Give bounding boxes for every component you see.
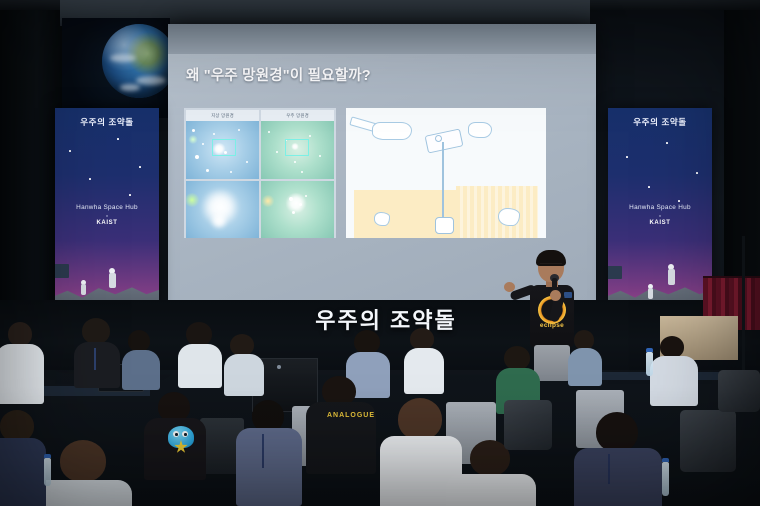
torso (122, 350, 160, 390)
cell-ground-wide (186, 121, 259, 179)
head (230, 334, 254, 356)
torso (236, 428, 302, 506)
suitcase (680, 410, 736, 472)
presenter-badge (564, 292, 572, 298)
screen-top-band (168, 24, 596, 54)
telescope-image-comparison: 지상 망원경 우주 망원경 (184, 108, 336, 238)
astronaut-icon (648, 288, 653, 299)
lanyard (262, 434, 264, 468)
banner-left-title: 우주의 조약돌 (55, 116, 159, 128)
lander-icon (608, 266, 622, 279)
torso (650, 356, 698, 406)
lander-icon (55, 264, 69, 278)
banner-left-partner: KAIST (55, 220, 159, 226)
tower-base (435, 217, 454, 234)
cell-space-wide (261, 121, 334, 179)
tower-antenna (442, 142, 444, 220)
banner-right-x: x (608, 214, 712, 218)
speaker-led-icon (277, 365, 281, 369)
analogue-jacket-text: ANALOGUE (321, 412, 381, 419)
venue-backdrop-text: 우주의 조약돌 (286, 303, 486, 335)
head (186, 322, 212, 346)
water-bottle (44, 458, 51, 486)
astronaut-icon (109, 273, 116, 288)
atmosphere-turbulence (456, 186, 538, 238)
ground-rock-icon (374, 212, 390, 226)
atmosphere-sketch (346, 108, 546, 238)
presenter-hand (550, 290, 561, 301)
comparison-labels: 지상 망원경 우주 망원경 (186, 110, 334, 121)
cell-ground-zoom (186, 181, 259, 239)
presenter-shirt-text: eclipse (534, 322, 570, 329)
banner-right-sub: Hanwha Space Hub (608, 204, 712, 211)
water-bottle (662, 462, 669, 496)
torso (224, 354, 264, 396)
torso (446, 474, 536, 506)
torso (0, 344, 44, 404)
banner-right-partner: KAIST (608, 220, 712, 226)
torso (404, 348, 444, 394)
presenter-hand (504, 282, 515, 292)
head (128, 330, 150, 352)
head (410, 328, 434, 350)
satellite-aperture-icon (435, 135, 442, 142)
banner-left-sub: Hanwha Space Hub (55, 204, 159, 211)
bottle-cap (44, 454, 51, 458)
earth-poster (62, 18, 170, 118)
lecture-hall-photo: 왜 "우주 망원경"이 필요할까? 지상 망원경 우주 망원경 (0, 0, 760, 506)
ground-rock-icon (498, 208, 520, 226)
head (8, 322, 32, 346)
banner-left-x: x (55, 214, 159, 218)
cell-space-zoom (261, 181, 334, 239)
astronaut-icon (668, 269, 675, 285)
torso (0, 438, 46, 506)
selection-box (212, 139, 236, 156)
bottle-cap (662, 458, 669, 462)
astronaut-icon (81, 284, 86, 295)
slide-title: 왜 "우주 망원경"이 필요할까? (186, 64, 576, 85)
light-stand (742, 236, 745, 376)
lanyard (94, 348, 96, 370)
label-space-telescope: 우주 망원경 (261, 110, 334, 121)
satellite-telescope-icon (425, 128, 464, 153)
banner-right-title: 우주의 조약돌 (608, 116, 712, 128)
head (574, 330, 594, 350)
cloud-icon (372, 122, 412, 140)
head (596, 412, 638, 452)
head (60, 440, 106, 482)
selection-box (285, 139, 309, 156)
cloud-icon (468, 122, 492, 138)
head (660, 336, 684, 358)
torso (574, 448, 662, 506)
torso (74, 342, 120, 388)
label-ground-telescope: 지상 망원경 (186, 110, 259, 121)
head (398, 398, 442, 440)
presenter-trousers (534, 345, 570, 381)
head (82, 318, 110, 344)
water-bottle (646, 352, 653, 376)
wall-panel-left (0, 0, 62, 330)
head (354, 330, 380, 354)
glasses-icon (540, 263, 562, 269)
earth-globe-icon (102, 24, 170, 98)
bottle-cap (646, 348, 653, 352)
comparison-grid (186, 121, 334, 238)
backpack (504, 400, 552, 450)
torso (178, 344, 222, 388)
backpack (718, 370, 760, 412)
lanyard (608, 454, 610, 484)
head (504, 346, 530, 370)
torso (568, 348, 602, 386)
